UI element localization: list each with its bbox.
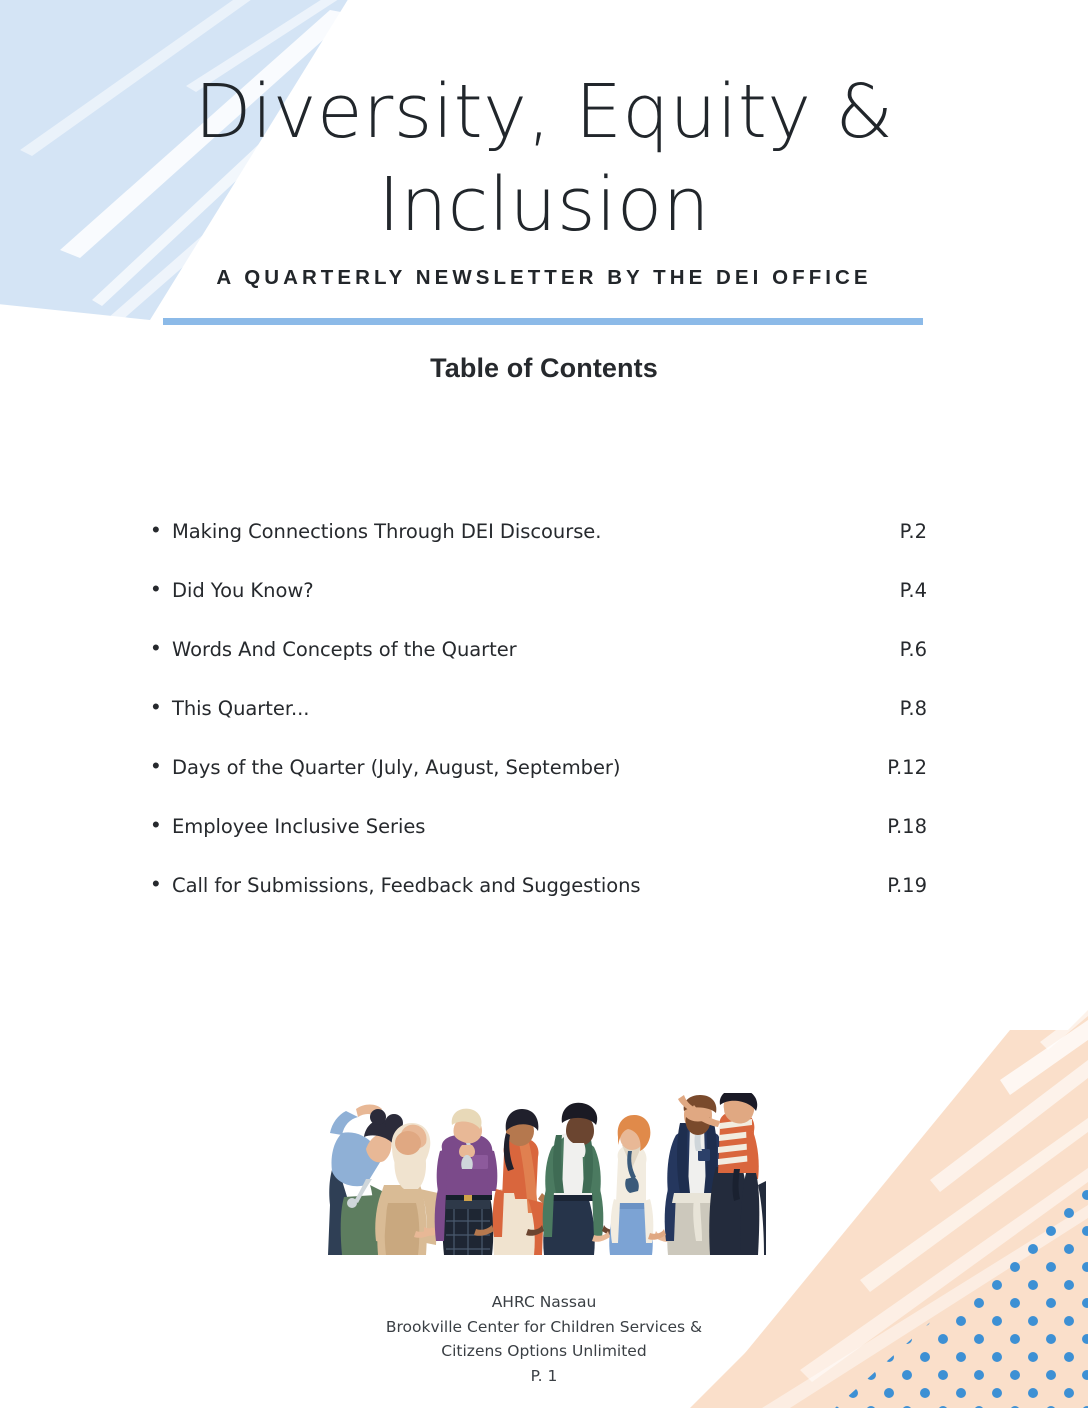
bullet-icon: • [152, 637, 172, 659]
toc-item-page: P.8 [855, 697, 927, 720]
toc-item[interactable]: • Days of the Quarter (July, August, Sep… [152, 756, 927, 815]
toc-item-label: This Quarter... [172, 697, 855, 720]
toc-item-label: Call for Submissions, Feedback and Sugge… [172, 874, 855, 897]
toc-item[interactable]: • Words And Concepts of the Quarter P.6 [152, 638, 927, 697]
toc-item-label: Did You Know? [172, 579, 855, 602]
footer-line-3: Citizens Options Unlimited [0, 1339, 1088, 1364]
bullet-icon: • [152, 696, 172, 718]
bullet-icon: • [152, 814, 172, 836]
toc-item[interactable]: • Call for Submissions, Feedback and Sug… [152, 874, 927, 933]
footer-line-1: AHRC Nassau [0, 1290, 1088, 1315]
page-title-line-2: Inclusion [378, 162, 710, 248]
group-illustration-svg [322, 1093, 766, 1255]
bullet-icon: • [152, 873, 172, 895]
newsletter-page: Diversity, Equity &Inclusion A Quarterly… [0, 0, 1088, 1408]
toc-item-page: P.4 [855, 579, 927, 602]
header-divider [163, 318, 923, 325]
bullet-icon: • [152, 755, 172, 777]
toc-item-page: P.19 [855, 874, 927, 897]
toc-item[interactable]: • Employee Inclusive Series P.18 [152, 815, 927, 874]
toc-item-page: P.6 [855, 638, 927, 661]
page-title: Diversity, Equity &Inclusion [194, 66, 894, 252]
toc-item-page: P.12 [855, 756, 927, 779]
diverse-group-illustration [322, 1093, 766, 1255]
toc-item[interactable]: • This Quarter... P.8 [152, 697, 927, 756]
table-of-contents: • Making Connections Through DEI Discour… [152, 520, 927, 933]
toc-item-page: P.18 [855, 815, 927, 838]
page-subtitle: A Quarterly Newsletter by the DEI Office [0, 266, 1088, 290]
page-footer: AHRC Nassau Brookville Center for Childr… [0, 1290, 1088, 1388]
toc-item-page: P.2 [855, 520, 927, 543]
toc-item-label: Making Connections Through DEI Discourse… [172, 520, 855, 543]
toc-item[interactable]: • Making Connections Through DEI Discour… [152, 520, 927, 579]
toc-item-label: Employee Inclusive Series [172, 815, 855, 838]
page-title-line-1: Diversity, Equity & [194, 69, 893, 155]
toc-heading: Table of Contents [0, 353, 1088, 384]
footer-page-number: P. 1 [0, 1364, 1088, 1389]
toc-item-label: Words And Concepts of the Quarter [172, 638, 855, 661]
figure-5-person-green-jacket [526, 1103, 620, 1255]
bullet-icon: • [152, 519, 172, 541]
toc-item[interactable]: • Did You Know? P.4 [152, 579, 927, 638]
page-header: Diversity, Equity &Inclusion A Quarterly… [0, 66, 1088, 290]
bullet-icon: • [152, 578, 172, 600]
toc-item-label: Days of the Quarter (July, August, Septe… [172, 756, 855, 779]
footer-line-2: Brookville Center for Children Services … [0, 1315, 1088, 1340]
